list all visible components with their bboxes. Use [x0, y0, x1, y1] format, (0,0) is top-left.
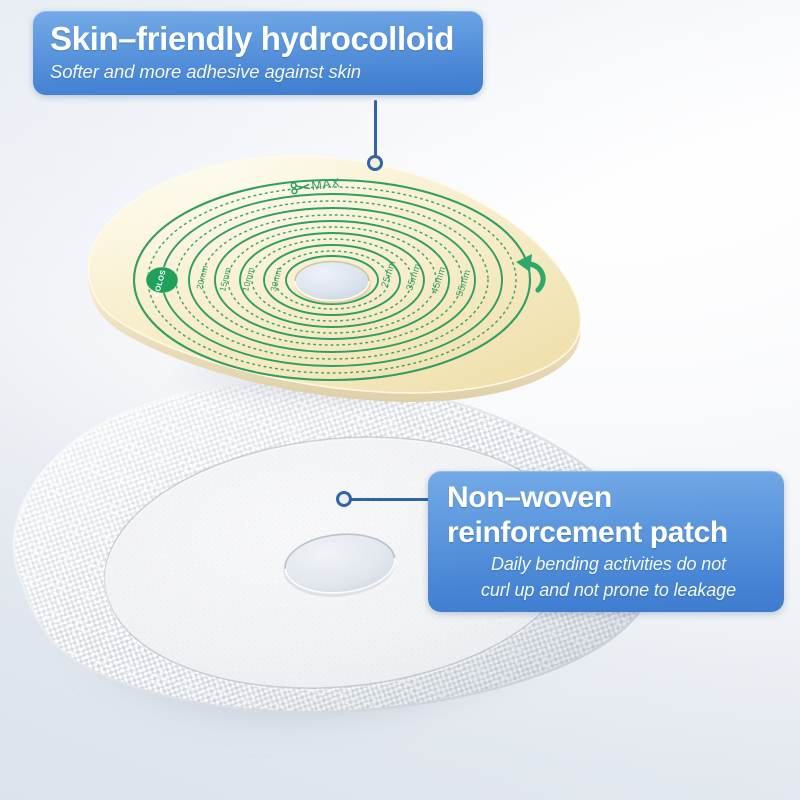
callout-1-marker: [367, 155, 383, 171]
callout-2-title-line-2: reinforcement patch: [447, 515, 770, 550]
callout-1-subtitle: Softer and more adhesive against skin: [50, 60, 467, 84]
callout-2-subtitle-line-2: curl up and not prone to leakage: [447, 579, 770, 602]
callout-non-woven-reinforcement-patch: Non–woven reinforcement patch Daily bend…: [428, 471, 784, 612]
callout-2-leader-line: [350, 498, 440, 501]
callout-2-subtitle-line-1: Daily bending activities do not: [447, 553, 770, 576]
product-infographic: MAX 25mm 35mm 45mm 55mm 20mm 15mm 10mm 3…: [0, 0, 800, 800]
callout-2-title-line-1: Non–woven: [447, 480, 770, 515]
callout-1-title: Skin–friendly hydrocolloid: [50, 19, 467, 59]
callout-2-marker: [336, 491, 352, 507]
callout-skin-friendly-hydrocolloid: Skin–friendly hydrocolloid Softer and mo…: [33, 11, 483, 95]
wafer-stoma-hole: [295, 262, 371, 305]
hydrocolloid-wafer: MAX 25mm 35mm 45mm 55mm 20mm 15mm 10mm 3…: [80, 140, 600, 402]
